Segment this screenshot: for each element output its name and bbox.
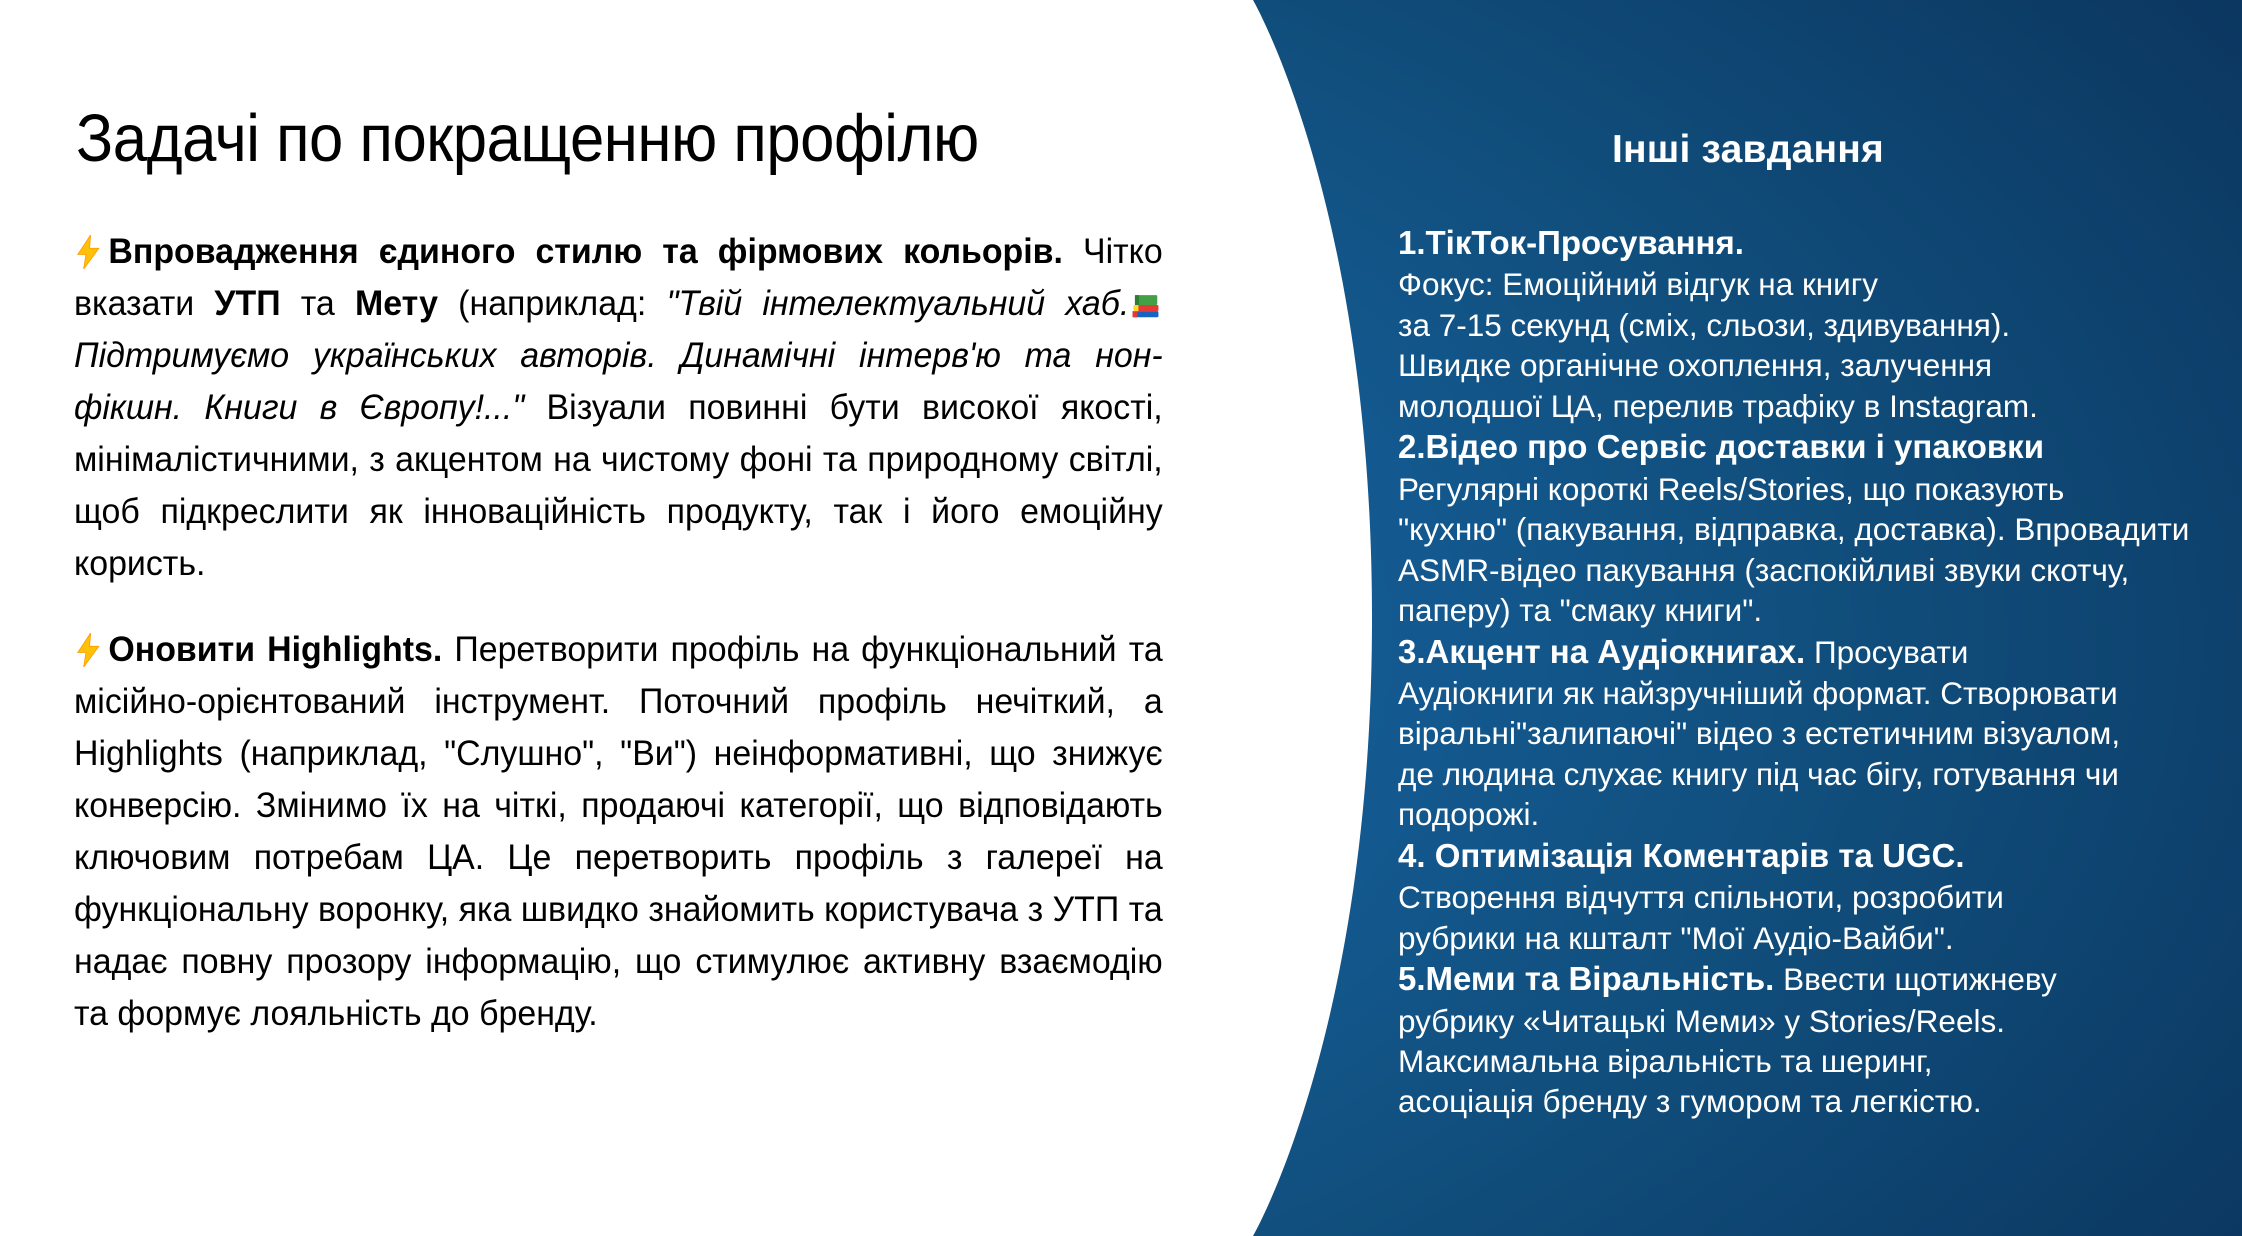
run-plain-3: (наприклад: bbox=[438, 283, 666, 323]
list-item-title-5: 5.Меми та Віральність. Ввести щотижневу bbox=[1398, 958, 2242, 1000]
run-italic-quote-1: "Твій інтелектуальний хаб. bbox=[666, 283, 1129, 323]
page-title: Задачі по покращенню профілю bbox=[76, 104, 979, 174]
list-item-title-3: 3.Акцент на Аудіокнигах. Просувати bbox=[1398, 631, 2242, 673]
list-item-line: Максимальна віральність та шеринг, bbox=[1398, 1041, 2242, 1081]
item-1-title: 1.ТікТок-Просування. bbox=[1398, 224, 1744, 261]
list-item-title-1: 1.ТікТок-Просування. bbox=[1398, 222, 2242, 264]
list-item-line: Створення відчуття спільноти, розробити bbox=[1398, 877, 2242, 917]
list-item-line: Швидке органічне охоплення, залучення bbox=[1398, 345, 2242, 385]
paragraph-unified-style: Впровадження єдиного стилю та фірмових к… bbox=[74, 225, 1163, 589]
high-voltage-icon bbox=[74, 231, 103, 265]
list-item-line: подорожі. bbox=[1398, 794, 2242, 834]
other-tasks-list: 1.ТікТок-Просування. Фокус: Емоційний ві… bbox=[1398, 222, 2242, 1122]
left-body-text: Впровадження єдиного стилю та фірмових к… bbox=[74, 225, 1163, 1039]
run-plain-highlights: Перетворити профіль на функціональний та… bbox=[74, 629, 1163, 1033]
list-item-line: ASMR-відео пакування (заспокійливі звуки… bbox=[1398, 550, 2242, 590]
item-5-title-tail: Ввести щотижневу bbox=[1774, 961, 2056, 997]
list-item-line: за 7-15 секунд (сміх, сльози, здивування… bbox=[1398, 305, 2242, 345]
right-content-column: Інші завдання 1.ТікТок-Просування. Фокус… bbox=[1398, 0, 2242, 1236]
item-2-title: 2.Відео про Сервіс доставки і упаковки bbox=[1398, 428, 2044, 465]
list-item-line: "кухню" (пакування, відправка, доставка)… bbox=[1398, 509, 2242, 549]
books-icon bbox=[1130, 282, 1161, 312]
left-content-column: Задачі по покращенню профілю Впровадженн… bbox=[0, 0, 1270, 1236]
list-item-line: асоціація бренду з гумором та легкістю. bbox=[1398, 1081, 2242, 1121]
list-item-title-4: 4. Оптимізація Коментарів та UGC. bbox=[1398, 835, 2242, 877]
item-4-title: 4. Оптимізація Коментарів та UGC. bbox=[1398, 837, 1965, 874]
right-panel-heading: Інші завдання bbox=[1398, 128, 2098, 172]
run-bold-utp: УТП bbox=[214, 283, 280, 323]
list-item-line: рубрику «Читацькі Меми» у Stories/Reels. bbox=[1398, 1001, 2242, 1041]
list-item-line: рубрики на кшталт "Мої Аудіо-Вайби". bbox=[1398, 918, 2242, 958]
run-plain-2: та bbox=[281, 283, 355, 323]
run-bold-highlights: Оновити Highlights. bbox=[108, 629, 442, 669]
slide-root: Задачі по покращенню профілю Впровадженн… bbox=[0, 0, 2242, 1236]
item-3-title-tail: Просувати bbox=[1805, 634, 1968, 670]
list-item-line: паперу) та "смаку книги". bbox=[1398, 590, 2242, 630]
list-item-line: Аудіокниги як найзручніший формат. Створ… bbox=[1398, 673, 2242, 713]
list-item-title-2: 2.Відео про Сервіс доставки і упаковки bbox=[1398, 426, 2242, 468]
list-item-line: Регулярні короткі Reels/Stories, що пока… bbox=[1398, 469, 2242, 509]
paragraph-highlights: Оновити Highlights. Перетворити профіль … bbox=[74, 623, 1163, 1039]
list-item-line: Фокус: Емоційний відгук на книгу bbox=[1398, 264, 2242, 304]
item-5-title: 5.Меми та Віральність. bbox=[1398, 960, 1774, 997]
high-voltage-icon-2 bbox=[74, 629, 103, 663]
list-item-line: де людина слухає книгу під час бігу, гот… bbox=[1398, 754, 2242, 794]
list-item-line: молодшої ЦА, перелив трафіку в Instagram… bbox=[1398, 386, 2242, 426]
list-item-line: віральні"залипаючі" відео з естетичним в… bbox=[1398, 713, 2242, 753]
run-bold-metu: Мету bbox=[355, 283, 438, 323]
item-3-title: 3.Акцент на Аудіокнигах. bbox=[1398, 633, 1805, 670]
run-bold-1: Впровадження єдиного стилю та фірмових к… bbox=[108, 231, 1063, 271]
